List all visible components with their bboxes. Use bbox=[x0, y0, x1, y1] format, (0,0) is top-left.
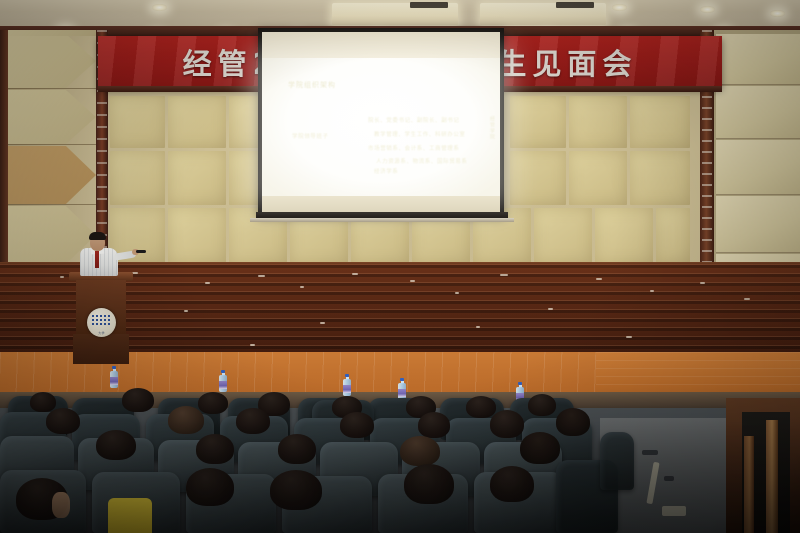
water-bottle bbox=[398, 378, 406, 400]
audience-yellow-shirt bbox=[108, 498, 152, 533]
audience-head bbox=[30, 392, 56, 412]
laser-pointer-icon bbox=[136, 250, 146, 253]
water-bottle bbox=[110, 366, 118, 388]
audience-head bbox=[186, 468, 234, 506]
audience-head bbox=[278, 434, 316, 464]
speaker-figure bbox=[76, 232, 136, 278]
audience-head bbox=[466, 396, 496, 418]
downlight bbox=[770, 10, 785, 17]
slide-line: 市场营销系、会计系、工商管理系 bbox=[368, 144, 460, 152]
audience-head bbox=[418, 412, 450, 438]
audience-head bbox=[122, 388, 154, 412]
seat bbox=[600, 432, 634, 490]
speaker-lanyard bbox=[95, 251, 99, 268]
projection-screen: 学院组织架构 学院领导班子 院长、党委书记、副院长、副书记 教学管理、学生工作、… bbox=[262, 58, 500, 198]
slide-left-label: 学院领导班子 bbox=[292, 132, 329, 140]
audience-head bbox=[46, 408, 80, 434]
slide-line: 教学管理、学生工作、科研办公室 bbox=[374, 130, 466, 138]
projection-screen-top-margin bbox=[262, 32, 500, 60]
audience-head bbox=[490, 466, 534, 502]
slide-line: 人力资源系、物流系、国际贸易系 bbox=[376, 157, 468, 165]
audience-head bbox=[520, 432, 560, 464]
audience-head bbox=[196, 434, 234, 464]
audience-head bbox=[404, 464, 454, 504]
university-emblem-icon: 大学 bbox=[87, 308, 116, 337]
audience-head bbox=[490, 410, 524, 438]
slide-line: 院长、党委书记、副院长、副书记 bbox=[368, 116, 460, 124]
slide-title: 学院组织架构 bbox=[288, 80, 336, 90]
audience-head bbox=[556, 408, 590, 436]
audience-head bbox=[270, 470, 322, 510]
audience-head bbox=[236, 408, 270, 434]
audience-head bbox=[528, 394, 556, 416]
emblem-text: 大学 bbox=[87, 331, 116, 335]
aisle-rail-bar bbox=[766, 420, 778, 533]
aisle-rail-bar bbox=[744, 436, 754, 533]
emblem-wave-pattern bbox=[92, 315, 111, 326]
projection-screen-rail bbox=[250, 218, 514, 222]
audience-head bbox=[198, 392, 228, 414]
audience-face bbox=[52, 492, 70, 518]
audience-head bbox=[168, 406, 204, 434]
auditorium-photo: 经管2019级新生师生见面会 学院组织架构 学院领导班子 院长、党委书记、副院长… bbox=[0, 0, 800, 533]
downlight bbox=[612, 4, 627, 11]
downlight bbox=[700, 6, 715, 13]
audience-head bbox=[96, 430, 136, 460]
ceiling-vent bbox=[556, 2, 594, 8]
downlight bbox=[152, 4, 167, 11]
ceiling-vent bbox=[410, 2, 448, 8]
water-bottle bbox=[343, 374, 351, 396]
podium: 大学 bbox=[72, 272, 130, 364]
water-bottle bbox=[219, 370, 227, 392]
audience-head bbox=[340, 412, 374, 438]
speaker-hair bbox=[89, 232, 106, 240]
slide-side-note: 经管学院 bbox=[489, 116, 496, 140]
audience-head bbox=[400, 436, 440, 466]
slide-line: 经济学系 bbox=[374, 167, 398, 175]
podium-base bbox=[73, 334, 129, 364]
